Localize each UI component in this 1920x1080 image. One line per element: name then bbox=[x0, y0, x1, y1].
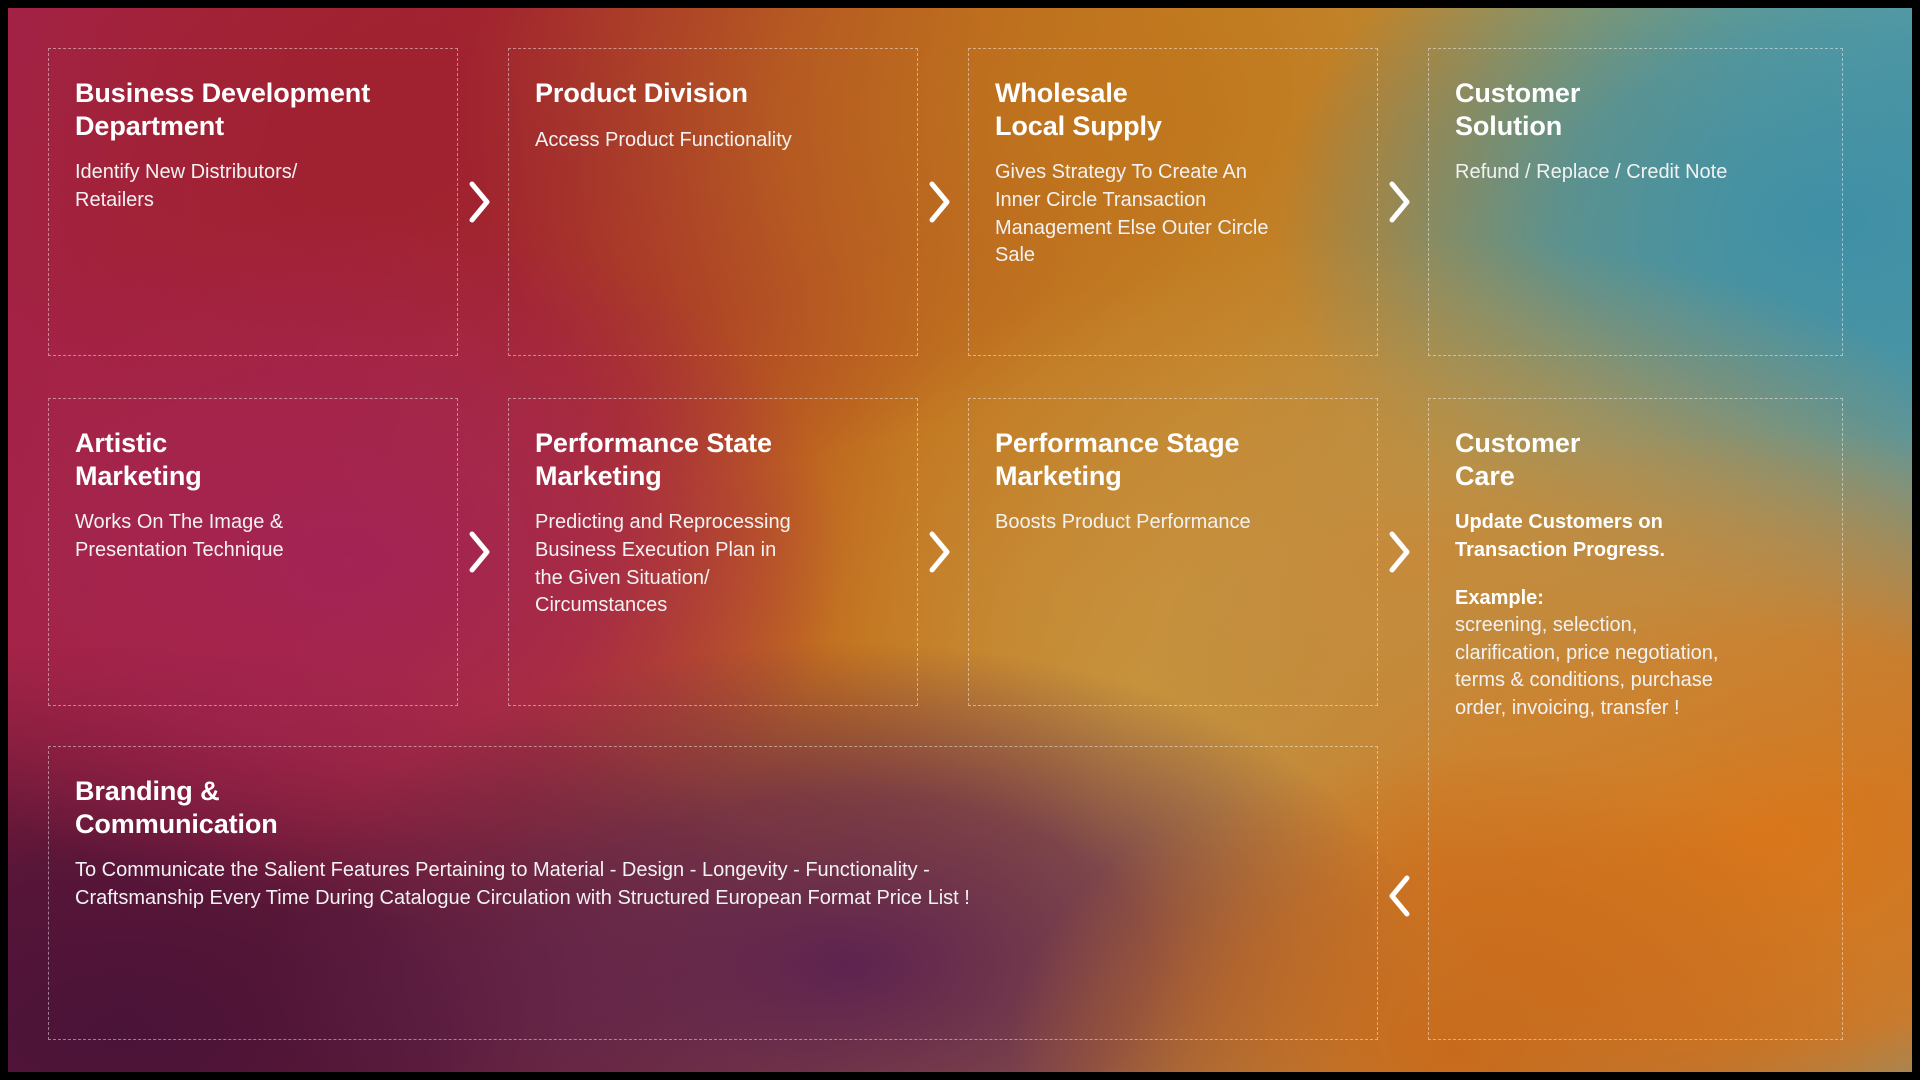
card-performance-stage-marketing[interactable]: Performance Stage Marketing Boosts Produ… bbox=[968, 398, 1378, 706]
card-title: Artistic Marketing bbox=[75, 427, 431, 492]
spacer bbox=[1455, 565, 1816, 585]
chevron-left-icon bbox=[1383, 870, 1417, 922]
card-title: Product Division bbox=[535, 77, 891, 110]
gradient-canvas: Business Development Department Identify… bbox=[8, 8, 1912, 1072]
card-example-body: screening, selection, clarification, pri… bbox=[1455, 612, 1816, 722]
card-title: Wholesale Local Supply bbox=[995, 77, 1351, 142]
card-body: Update Customers on Transaction Progress… bbox=[1455, 509, 1816, 564]
card-customer-solution[interactable]: Customer Solution Refund / Replace / Cre… bbox=[1428, 48, 1843, 356]
card-product-division[interactable]: Product Division Access Product Function… bbox=[508, 48, 918, 356]
card-body: Identify New Distributors/ Retailers bbox=[75, 159, 431, 214]
chevron-right-icon bbox=[1383, 176, 1417, 228]
card-body: Access Product Functionality bbox=[535, 127, 891, 155]
card-performance-state-marketing[interactable]: Performance State Marketing Predicting a… bbox=[508, 398, 918, 706]
card-body: Works On The Image & Presentation Techni… bbox=[75, 509, 431, 564]
card-branding-and-communication[interactable]: Branding & Communication To Communicate … bbox=[48, 746, 1378, 1040]
card-customer-care[interactable]: Customer Care Update Customers on Transa… bbox=[1428, 398, 1843, 1040]
card-example-label: Example: bbox=[1455, 585, 1816, 613]
card-grid: Business Development Department Identify… bbox=[8, 8, 1912, 1072]
card-title: Branding & Communication bbox=[75, 775, 1351, 840]
card-body: To Communicate the Salient Features Pert… bbox=[75, 857, 1351, 912]
card-body: Gives Strategy To Create An Inner Circle… bbox=[995, 159, 1351, 269]
card-title: Customer Solution bbox=[1455, 77, 1816, 142]
card-title: Customer Care bbox=[1455, 427, 1816, 492]
card-business-development-department[interactable]: Business Development Department Identify… bbox=[48, 48, 458, 356]
card-wholesale-local-supply[interactable]: Wholesale Local Supply Gives Strategy To… bbox=[968, 48, 1378, 356]
card-title: Performance State Marketing bbox=[535, 427, 891, 492]
card-title: Business Development Department bbox=[75, 77, 431, 142]
chevron-right-icon bbox=[463, 526, 497, 578]
chevron-right-icon bbox=[923, 526, 957, 578]
screenshot-root: Business Development Department Identify… bbox=[0, 0, 1920, 1080]
card-body: Refund / Replace / Credit Note bbox=[1455, 159, 1816, 187]
chevron-right-icon bbox=[1383, 526, 1417, 578]
card-title: Performance Stage Marketing bbox=[995, 427, 1351, 492]
chevron-right-icon bbox=[923, 176, 957, 228]
card-body: Predicting and Reprocessing Business Exe… bbox=[535, 509, 891, 619]
card-artistic-marketing[interactable]: Artistic Marketing Works On The Image & … bbox=[48, 398, 458, 706]
card-body: Boosts Product Performance bbox=[995, 509, 1351, 537]
chevron-right-icon bbox=[463, 176, 497, 228]
